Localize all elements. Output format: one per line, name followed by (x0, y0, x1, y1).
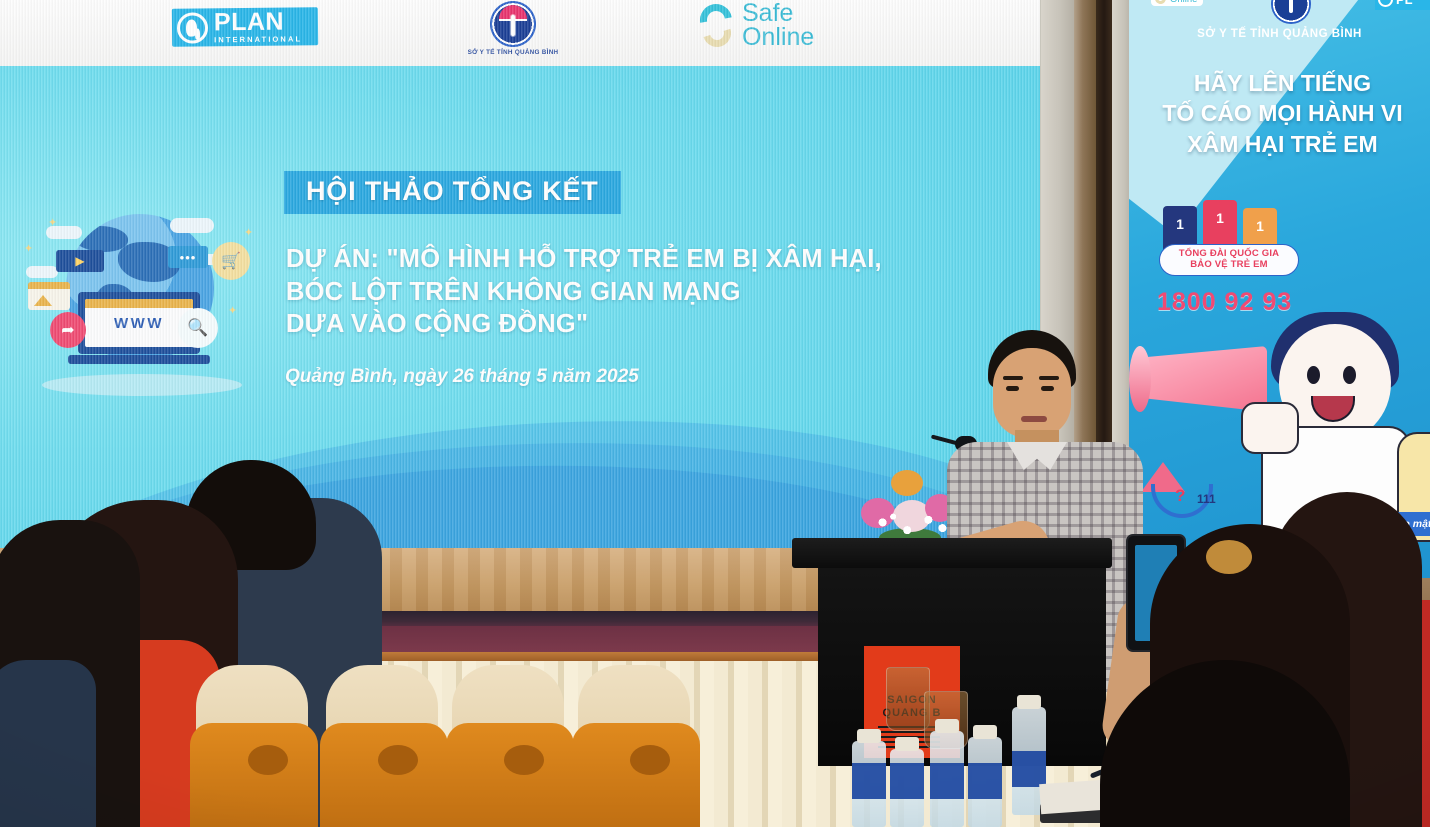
plan-logo-primary: PLAN (214, 10, 302, 36)
speaker-face (993, 348, 1071, 438)
smiley-111-number: 111 (1197, 492, 1216, 506)
banner-health-seal-icon (1271, 0, 1311, 24)
smiley-question-mark: ? (1175, 486, 1185, 506)
chair-3 (452, 667, 572, 827)
awareness-standee-banner: Safe Online PL SỞ Y TẾ TỈNH QUẢNG BÌNH H… (1129, 0, 1430, 578)
water-bottle-2 (890, 749, 924, 827)
water-bottle-1 (852, 741, 886, 827)
banner-plan-text: PL (1396, 0, 1413, 7)
chair-1 (196, 667, 316, 827)
banner-smiley-mark: ? 111 (1141, 462, 1227, 518)
banner-plan-emblem-icon (1378, 0, 1393, 7)
sparkle-icon-3: ✦ (244, 226, 253, 239)
attendee-hair-clip (1206, 540, 1252, 574)
attendee-blue-left (0, 660, 96, 827)
banner-safe-line2: Online (1170, 0, 1197, 4)
internet-globe-laptop-illustration: ▶ ••• WWW ➦ 🔍 🛒 ✦ ✦ ✦ ✦ (18, 208, 280, 394)
sparkle-icon-2: ✦ (228, 304, 237, 317)
banner-phone-number: 1800 92 93 (1157, 288, 1292, 317)
slide-subtitle: DỰ ÁN: "MÔ HÌNH HỖ TRỢ TRẺ EM BỊ XÂM HẠI… (286, 243, 1026, 341)
slide-title-text: HỘI THẢO TỔNG KẾT (306, 176, 599, 206)
podium-top (792, 538, 1112, 568)
banner-department-label: SỞ Y TẾ TỈNH QUẢNG BÌNH (1129, 28, 1430, 40)
illustration-shadow (42, 374, 242, 396)
safe-online-logo: Safe Online (696, 2, 814, 49)
banner-logo-row: Safe Online PL (1129, 0, 1430, 26)
hotline-label-band: TỔNG ĐÀI QUỐC GIA BẢO VỆ TRẺ EM (1159, 244, 1299, 276)
sparkle-icon-1: ✦ (24, 242, 33, 255)
cloud-icon-2 (170, 218, 214, 233)
plan-logo-secondary: INTERNATIONAL (214, 36, 302, 44)
banner-plan-logo: PL (1375, 0, 1430, 10)
banner-headline-line-2: TỐ CÁO MỌI HÀNH VI (1129, 98, 1430, 128)
conference-photo-scene: PLAN INTERNATIONAL SỞ Y TẾ TỈNH QUẢNG BÌ… (0, 0, 1430, 827)
banner-headline-line-1: HÃY LÊN TIẾNG (1129, 68, 1430, 98)
plan-emblem-icon (177, 12, 208, 43)
health-seal-icon (490, 1, 536, 47)
chat-icon: ••• (168, 246, 208, 268)
water-bottle-3 (930, 731, 964, 827)
quang-binh-health-department-logo: SỞ Y TẾ TỈNH QUẢNG BÌNH (448, 1, 578, 63)
slide-title-badge: HỘI THẢO TỔNG KẾT (284, 171, 621, 214)
banner-headline: HÃY LÊN TIẾNG TỐ CÁO MỌI HÀNH VI XÂM HẠI… (1129, 68, 1430, 159)
safe-online-logo-small: Safe Online (1151, 0, 1203, 6)
hotline-label-line-2: BẢO VỆ TRẺ EM (1190, 260, 1268, 271)
basket-icon: 🛒 (212, 242, 250, 280)
projection-screen-slide: PLAN INTERNATIONAL SỞ Y TẾ TỈNH QUẢNG BÌ… (0, 0, 1040, 548)
search-icon: 🔍 (178, 308, 218, 348)
slide-subtitle-line-3: DỰA VÀO CỘNG ĐỒNG" (286, 308, 1026, 341)
play-icon: ▶ (56, 250, 104, 272)
safe-online-spiral-icon (696, 3, 738, 49)
slide-subtitle-line-2: BÓC LỘT TRÊN KHÔNG GIAN MẠNG (286, 276, 1026, 309)
water-bottle-4 (968, 737, 1002, 827)
cartoon-boy-arm (1241, 402, 1299, 454)
cartoon-boy-eye-left (1307, 366, 1320, 384)
sparkle-icon-4: ✦ (48, 216, 57, 229)
banner-headline-line-3: XÂM HẠI TRẺ EM (1129, 129, 1430, 159)
cloud-icon-3 (26, 266, 58, 278)
chair-4 (578, 667, 698, 827)
plan-international-logo: PLAN INTERNATIONAL (172, 7, 318, 47)
image-icon (28, 282, 70, 310)
megaphone-icon (1137, 346, 1267, 412)
share-icon: ➦ (50, 312, 86, 348)
health-department-caption: SỞ Y TẾ TỈNH QUẢNG BÌNH (448, 49, 578, 56)
cartoon-boy-eye-right (1343, 366, 1356, 384)
slide-subtitle-line-1: DỰ ÁN: "MÔ HÌNH HỖ TRỢ TRẺ EM BỊ XÂM HẠI… (286, 243, 1026, 276)
laptop-www-text: WWW (85, 315, 193, 332)
chair-2 (326, 667, 446, 827)
slide-logo-row: PLAN INTERNATIONAL SỞ Y TẾ TỈNH QUẢNG BÌ… (0, 0, 1040, 68)
slide-date-line: Quảng Bình, ngày 26 tháng 5 năm 2025 (285, 366, 639, 388)
hotline-111-logo: 1 1 1 TỔNG ĐÀI QUỐC GIA BẢO VỆ TRẺ EM (1159, 206, 1299, 282)
safe-online-line2: Online (742, 26, 814, 50)
safe-online-line1: Safe (742, 2, 814, 26)
